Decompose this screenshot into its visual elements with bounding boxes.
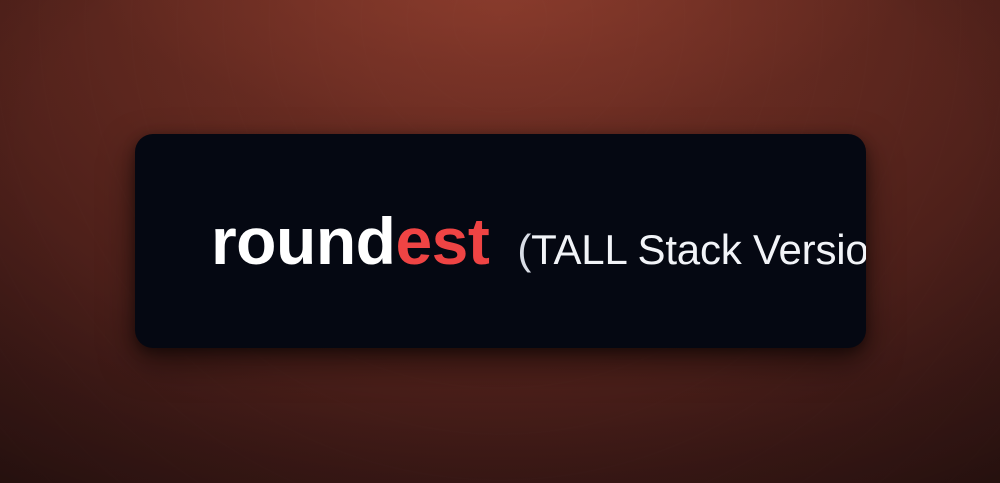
subtitle-open-paren: ( (517, 226, 531, 273)
logo-accent-text: est (395, 204, 489, 278)
app-subtitle: (TALL Stack Version) (517, 229, 866, 271)
app-logo-wordmark: roundest (211, 208, 489, 274)
logo-primary-text: round (211, 204, 395, 278)
app-screen: roundest (TALL Stack Version) (0, 0, 1000, 483)
subtitle-text: TALL Stack Version (531, 226, 866, 273)
hero-card: roundest (TALL Stack Version) (135, 134, 866, 348)
brand-row: roundest (TALL Stack Version) (135, 208, 866, 274)
